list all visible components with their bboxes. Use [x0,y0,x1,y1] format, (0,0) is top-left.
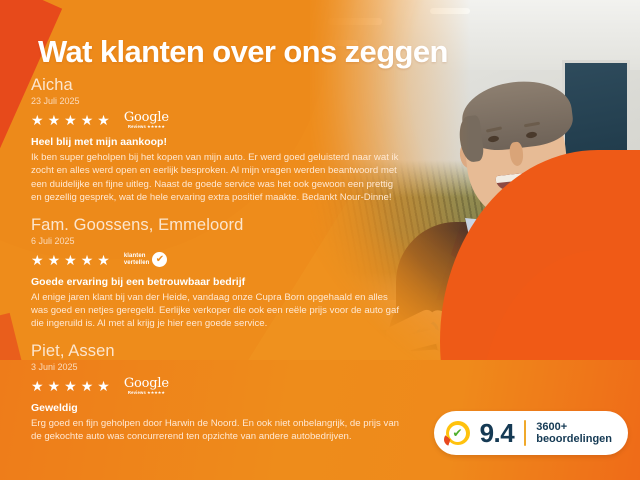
star-icon: ★ [48,379,61,393]
promo-banner: VDH Wat klanten over ons zeggen [0,0,640,480]
star-icon: ★ [97,379,110,393]
page-title: Wat klanten over ons zeggen [38,34,448,70]
star-rating: ★ ★ ★ ★ ★ [31,253,110,267]
star-rating: ★ ★ ★ ★ ★ [31,113,110,127]
google-reviews-logo: Google Reviews ★★★★★ [124,377,169,395]
review-title: Geweldig [31,402,421,415]
review-author: Fam. Goossens, Emmeloord [31,216,421,235]
google-wordmark: Google [124,377,169,390]
kv-label-line1: klanten [124,253,150,260]
review-title: Heel blij met mijn aankoop! [31,136,421,149]
star-icon: ★ [31,253,44,267]
star-icon: ★ [81,253,94,267]
review-title: Goede ervaring bij een betrouwbaar bedri… [31,276,421,289]
review-item: Piet, Assen 3 Juni 2025 ★ ★ ★ ★ ★ Google… [31,342,421,444]
rating-score: 9.4 [480,420,515,446]
review-author: Aicha [31,76,421,95]
mini-star-icons: ★★★★★ [147,125,165,129]
review-item: Aicha 23 Juli 2025 ★ ★ ★ ★ ★ Google Revi… [31,76,421,205]
google-reviews-label: Reviews [128,391,146,395]
klantenvertellen-check-icon: ✔ [446,421,470,445]
star-icon: ★ [64,113,77,127]
star-icon: ★ [31,379,44,393]
kv-label-line2: vertellen [124,260,150,267]
star-icon: ★ [97,253,110,267]
star-icon: ★ [48,113,61,127]
klantenvertellen-logo: klanten vertellen ✔ [124,252,168,267]
google-wordmark: Google [124,111,169,124]
review-item: Fam. Goossens, Emmeloord 6 Juli 2025 ★ ★… [31,216,421,331]
review-list: Aicha 23 Juli 2025 ★ ★ ★ ★ ★ Google Revi… [31,76,421,455]
star-icon: ★ [81,113,94,127]
rating-count-label: beoordelingen [536,433,612,446]
star-icon: ★ [64,253,77,267]
review-date: 23 Juli 2025 [31,95,421,108]
mini-star-icons: ★★★★★ [147,391,165,395]
rating-badge[interactable]: ✔ 9.4 3600+ beoordelingen [434,411,628,455]
review-date: 3 Juni 2025 [31,361,421,374]
google-reviews-logo: Google Reviews ★★★★★ [124,111,169,129]
review-date: 6 Juli 2025 [31,235,421,248]
rating-count: 3600+ [536,421,612,434]
review-author: Piet, Assen [31,342,421,361]
star-icon: ★ [64,379,77,393]
star-rating: ★ ★ ★ ★ ★ [31,379,110,393]
star-icon: ★ [31,113,44,127]
check-circle-icon: ✔ [152,252,167,267]
review-body: Ik ben super geholpen bij het kopen van … [31,151,403,205]
star-icon: ★ [97,113,110,127]
badge-divider [524,420,526,446]
review-body: Erg goed en fijn geholpen door Harwin de… [31,417,403,444]
star-icon: ★ [81,379,94,393]
star-icon: ★ [48,253,61,267]
google-reviews-label: Reviews [128,125,146,129]
review-body: Al enige jaren klant bij van der Heide, … [31,291,403,331]
